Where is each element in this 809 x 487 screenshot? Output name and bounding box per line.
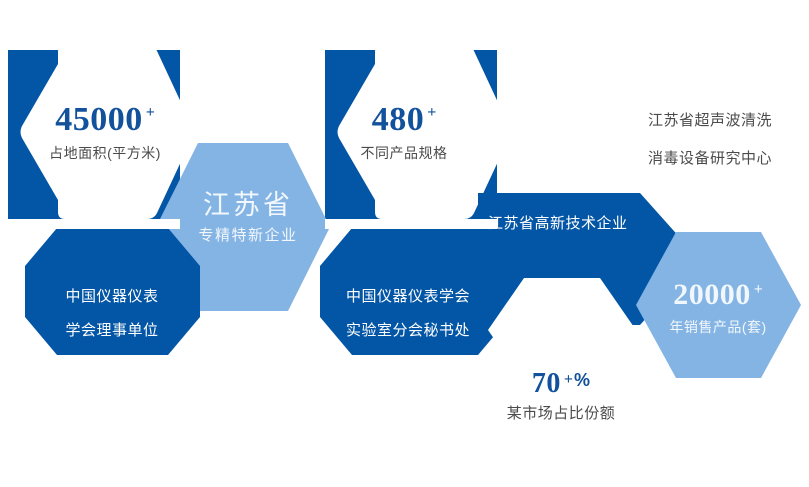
badge-line1-specialized-new-enterprise: 江苏省 bbox=[203, 192, 293, 219]
stat-caption-annual-sales: 年销售产品(套) bbox=[669, 320, 766, 334]
stat-value-market-share: 70 bbox=[532, 370, 561, 398]
stat-caption-land-area: 占地面积(平方米) bbox=[49, 146, 161, 160]
stat-number-market-share: 70 + % bbox=[532, 370, 590, 398]
stat-suffix-market-share: + bbox=[564, 372, 573, 388]
divider-middle bbox=[325, 219, 497, 229]
stat-value-annual-sales: 20000 bbox=[673, 280, 751, 310]
divider-left bbox=[8, 219, 180, 229]
badge-line1-lab-branch-secretariat: 中国仪器仪表学会 bbox=[346, 289, 470, 304]
badge-line1-instrument-society-director: 中国仪器仪表 bbox=[65, 289, 158, 304]
note-line2-research-center: 消毒设备研究中心 bbox=[648, 151, 772, 166]
stat-caption-product-specs: 不同产品规格 bbox=[361, 146, 448, 160]
stat-suffix-product-specs: + bbox=[427, 105, 436, 121]
stat-value-product-specs: 480 bbox=[372, 103, 425, 137]
stat-suffix-annual-sales: + bbox=[754, 282, 763, 298]
shapes-layer bbox=[0, 0, 809, 487]
infographic-canvas: 45000 + 占地面积(平方米) 480 + 不同产品规格 江苏省 专精特新企… bbox=[0, 0, 809, 487]
stat-number-annual-sales: 20000 + bbox=[673, 280, 763, 310]
badge-line2-specialized-new-enterprise: 专精特新企业 bbox=[198, 229, 297, 244]
badge-line2-instrument-society-director: 学会理事单位 bbox=[65, 323, 158, 338]
badge-line2-lab-branch-secretariat: 实验室分会秘书处 bbox=[346, 323, 470, 338]
stat-number-product-specs: 480 + bbox=[372, 103, 437, 137]
note-line1-research-center: 江苏省超声波清洗 bbox=[648, 113, 772, 128]
stat-unit-market-share: % bbox=[574, 371, 590, 389]
stat-suffix-land-area: + bbox=[146, 105, 155, 121]
stat-value-land-area: 45000 bbox=[55, 103, 143, 137]
badge-line1-high-tech-enterprise: 江苏省高新技术企业 bbox=[488, 216, 628, 231]
stat-number-land-area: 45000 + bbox=[55, 103, 155, 137]
stat-caption-market-share: 某市场占比份额 bbox=[507, 406, 616, 421]
